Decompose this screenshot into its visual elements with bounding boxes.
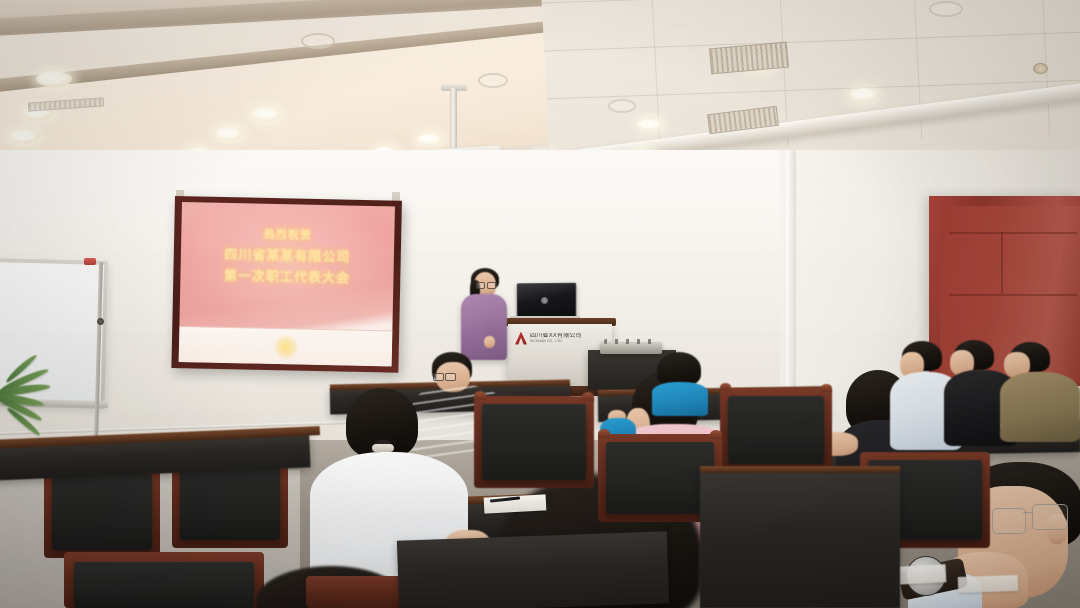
desk-edge (700, 466, 900, 473)
recessed-downlight (215, 128, 243, 140)
door-groove (949, 232, 1077, 234)
projection-screen-surface: 热烈祝贺 四川省某某有限公司 第一次职工代表大会 (179, 202, 395, 366)
chair-post-cap (710, 430, 722, 439)
desk-side-panel (397, 531, 669, 608)
desk-side-panel (700, 470, 900, 608)
slide-text-block: 热烈祝贺 四川省某某有限公司 第一次职工代表大会 (180, 224, 394, 287)
conference-room-photo: 热烈祝贺 四川省某某有限公司 第一次职工代表大会 四川省XX有限公司 SICHU… (0, 0, 1080, 608)
person-torso (652, 382, 708, 416)
ring-light (608, 99, 636, 113)
ring-light (478, 73, 508, 88)
chair-post-cap (821, 384, 832, 392)
person-glasses-icon (433, 373, 455, 379)
company-logo-mark-icon (515, 332, 527, 345)
ring-light (929, 1, 963, 17)
chair-backrest (52, 474, 152, 550)
whiteboard-clip (84, 258, 96, 265)
presenter-torso (461, 294, 507, 360)
chair-post-cap (720, 383, 731, 391)
person-torso (1000, 372, 1080, 442)
hair-tie (372, 444, 394, 452)
chair-post-cap (582, 392, 594, 401)
laptop-logo (541, 297, 548, 304)
podium-logo-plate: 四川省XX有限公司 SICHUAN CO., LTD. (515, 330, 607, 346)
notepad[interactable] (958, 575, 1019, 593)
slide-line-1: 热烈祝贺 (181, 224, 394, 244)
whiteboard-pivot-knob (97, 318, 104, 325)
projector-mount-pole (450, 88, 457, 150)
door-groove (949, 294, 1077, 296)
chair-backrest (606, 442, 714, 514)
slide-line-2: 四川省某某有限公司 (181, 243, 394, 266)
chair-backrest (482, 404, 586, 480)
presenter-glasses-icon (476, 282, 494, 287)
podium-company-subtext: SICHUAN CO., LTD. (530, 339, 582, 343)
slide-emblem (274, 336, 296, 358)
presenter-hand (484, 336, 495, 348)
recessed-downlight (251, 108, 281, 121)
recessed-downlight (36, 71, 72, 87)
smoke-detector (1033, 63, 1048, 74)
ring-light (301, 33, 335, 49)
door-groove (1001, 232, 1003, 294)
recessed-downlight (637, 119, 663, 130)
recessed-downlight (849, 88, 879, 102)
podium-company-name: 四川省XX有限公司 (530, 333, 582, 340)
person-hair (657, 352, 701, 386)
recessed-downlight (9, 130, 39, 143)
recessed-downlight (417, 134, 443, 145)
glasses-lens-left (992, 508, 1026, 534)
chair-backrest (728, 396, 824, 464)
glasses-bridge (1023, 512, 1033, 513)
audio-mixer-knobs[interactable] (604, 339, 658, 344)
chair-backrest (74, 562, 254, 608)
chair-post-cap (598, 429, 610, 438)
glasses-lens-right (1032, 504, 1068, 530)
chair-post-cap (474, 391, 486, 400)
